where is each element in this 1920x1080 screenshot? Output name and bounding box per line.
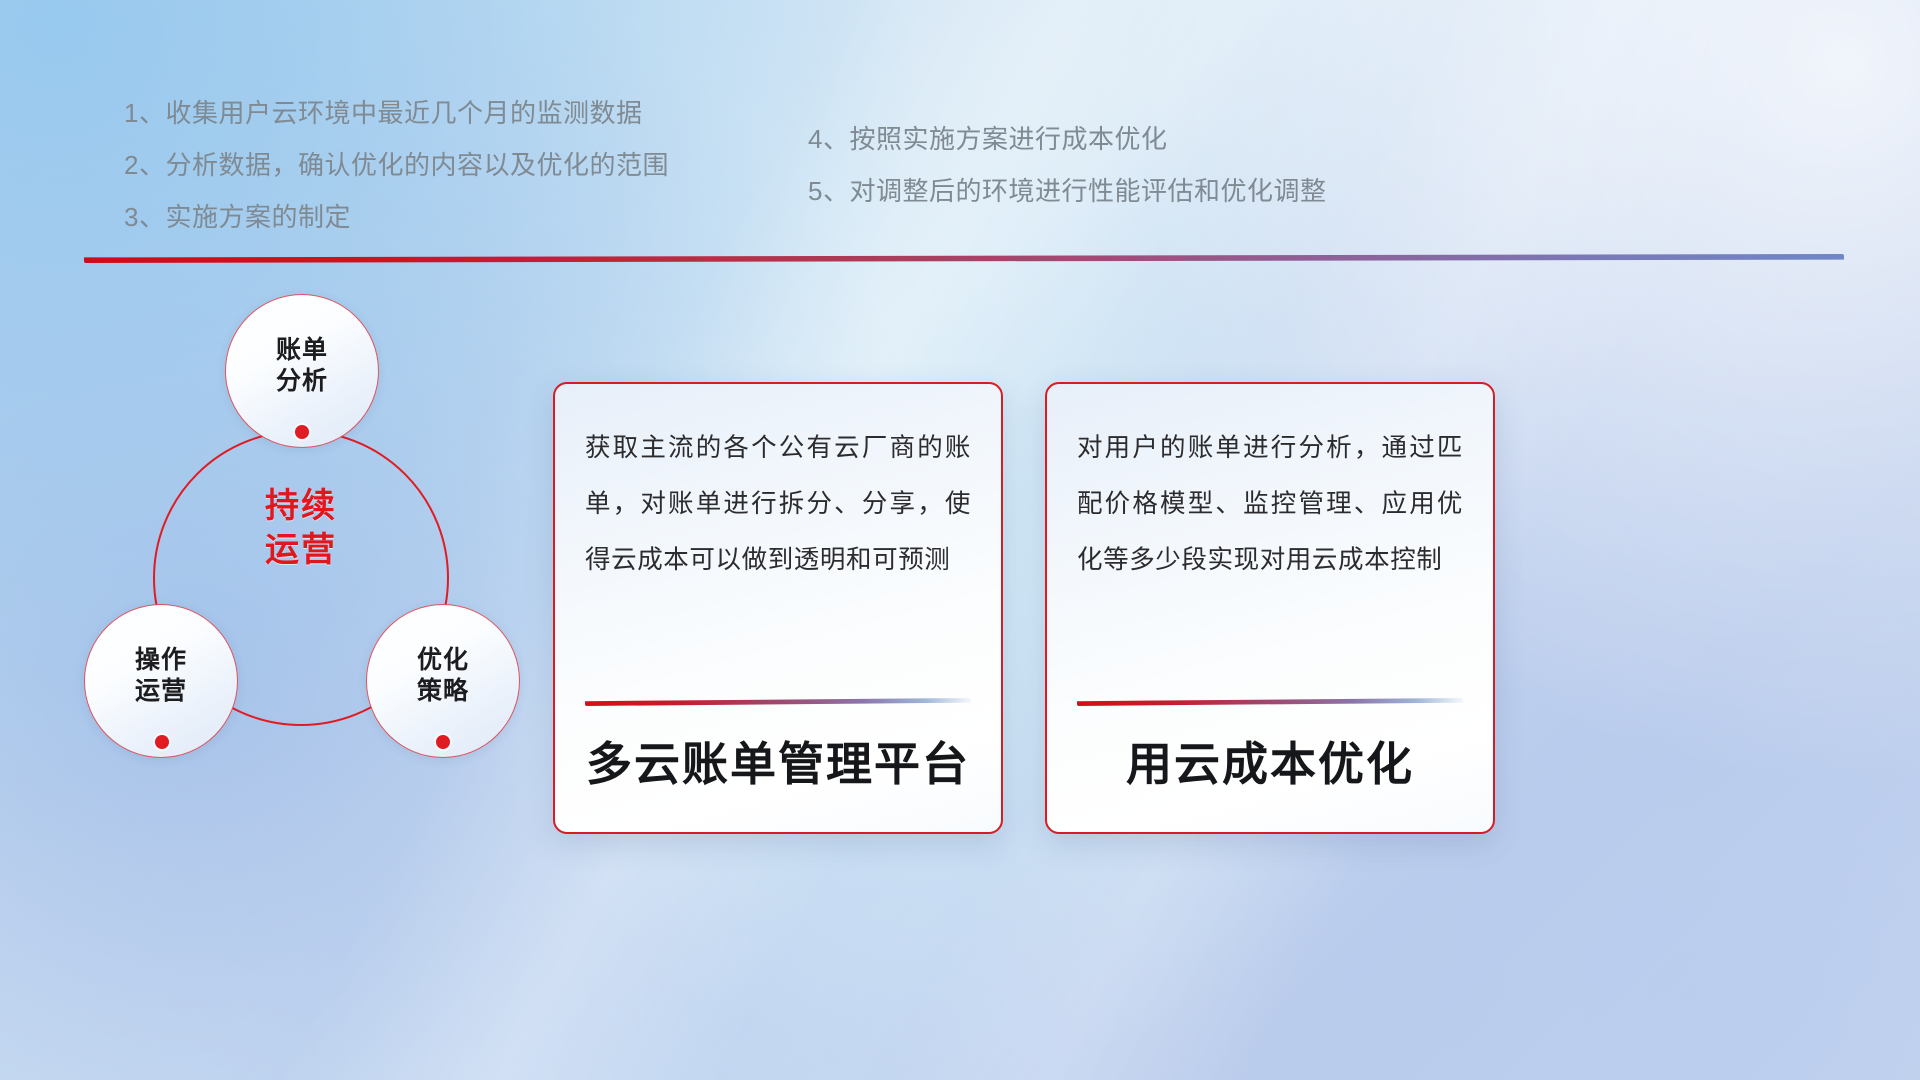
step-item: 4、按照实施方案进行成本优化: [808, 126, 1326, 152]
circle-optimization-strategy-label: 优化 策略: [367, 645, 519, 706]
continuous-operation-diagram: 持续 运营 账单 分析 操作 运营 优化 策略: [78, 284, 538, 774]
opt-label-line1: 优化: [367, 645, 519, 676]
connector-dot-right-icon: [436, 735, 450, 749]
slide-canvas: 1、收集用户云环境中最近几个月的监测数据 2、分析数据，确认优化的内容以及优化的…: [0, 0, 1920, 1080]
card-multicloud-billing[interactable]: 获取主流的各个公有云厂商的账单，对账单进行拆分、分享，使得云成本可以做到透明和可…: [553, 382, 1003, 834]
circle-bill-analysis-label: 账单 分析: [226, 335, 378, 396]
step-item: 5、对调整后的环境进行性能评估和优化调整: [808, 178, 1326, 204]
card-title: 多云账单管理平台: [555, 728, 1001, 794]
steps-list-right: 4、按照实施方案进行成本优化 5、对调整后的环境进行性能评估和优化调整: [808, 126, 1326, 230]
card-accent-rule: [1077, 698, 1463, 706]
step-item: 1、收集用户云环境中最近几个月的监测数据: [124, 100, 669, 126]
card-body-text: 对用户的账单进行分析，通过匹配价格模型、监控管理、应用优化等多少段实现对用云成本…: [1077, 420, 1463, 588]
center-label-line2: 运营: [153, 528, 449, 572]
bill-label-line2: 分析: [226, 366, 378, 397]
ops-label-line2: 运营: [85, 676, 237, 707]
step-item: 3、实施方案的制定: [124, 204, 669, 230]
ops-label-line1: 操作: [85, 645, 237, 676]
step-item: 2、分析数据，确认优化的内容以及优化的范围: [124, 152, 669, 178]
card-title: 用云成本优化: [1047, 728, 1493, 794]
bill-label-line1: 账单: [226, 335, 378, 366]
connector-dot-top-icon: [295, 425, 309, 439]
diagram-center-label: 持续 运营: [153, 484, 449, 572]
center-label-line1: 持续: [153, 484, 449, 528]
card-cloud-cost-optimization[interactable]: 对用户的账单进行分析，通过匹配价格模型、监控管理、应用优化等多少段实现对用云成本…: [1045, 382, 1495, 834]
card-accent-rule: [585, 698, 971, 706]
circle-operation-management-label: 操作 运营: [85, 645, 237, 706]
card-body-text: 获取主流的各个公有云厂商的账单，对账单进行拆分、分享，使得云成本可以做到透明和可…: [585, 420, 971, 588]
opt-label-line2: 策略: [367, 676, 519, 707]
steps-list-left: 1、收集用户云环境中最近几个月的监测数据 2、分析数据，确认优化的内容以及优化的…: [124, 100, 669, 256]
connector-dot-left-icon: [155, 735, 169, 749]
